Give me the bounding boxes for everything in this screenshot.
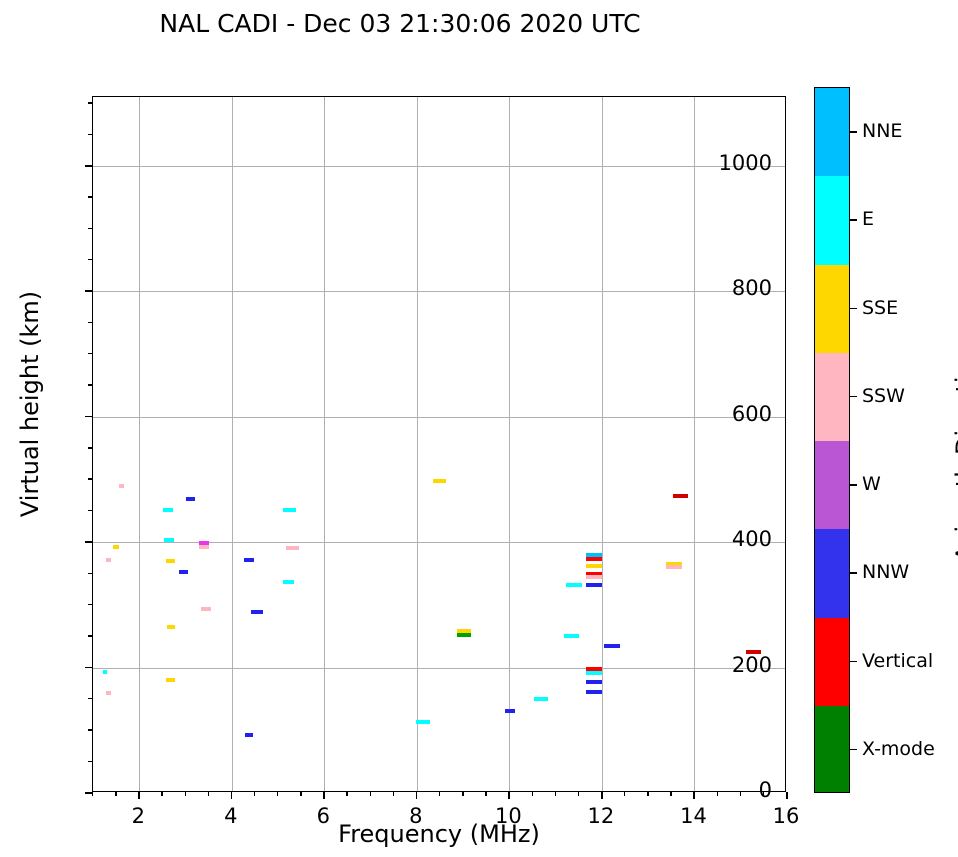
- ionogram-figure: NAL CADI - Dec 03 21:30:06 2020 UTC 0200…: [0, 0, 958, 857]
- data-mark: [564, 634, 579, 638]
- data-mark: [245, 733, 253, 737]
- data-mark: [201, 607, 211, 611]
- data-mark: [433, 479, 446, 483]
- x-tick-major: [508, 792, 510, 799]
- colorbar-label-nne: NNE: [862, 120, 902, 142]
- colorbar-segment-nne: [815, 88, 849, 176]
- data-mark: [416, 720, 430, 724]
- colorbar-title: Azimuth Direction: [951, 284, 958, 624]
- colorbar-segment-w: [815, 441, 849, 529]
- data-mark: [534, 697, 548, 701]
- data-mark: [166, 559, 175, 563]
- x-tick-minor: [370, 792, 371, 796]
- data-mark: [244, 558, 254, 562]
- data-mark: [604, 644, 619, 648]
- data-mark: [106, 558, 111, 562]
- data-mark: [186, 497, 195, 501]
- azimuth-colorbar: [814, 87, 850, 793]
- data-mark: [586, 583, 601, 587]
- x-tick-major: [138, 792, 140, 799]
- data-mark: [586, 690, 601, 694]
- data-mark: [119, 484, 125, 488]
- data-mark: [164, 538, 174, 542]
- data-mark: [586, 680, 601, 684]
- data-mark: [103, 670, 106, 674]
- y-axis-label: Virtual height (km): [16, 234, 44, 574]
- x-tick-minor: [624, 792, 625, 796]
- x-tick-minor: [647, 792, 648, 796]
- data-mark: [106, 691, 111, 695]
- y-tick-major: [85, 792, 92, 794]
- data-mark: [283, 508, 296, 512]
- data-mark: [283, 580, 295, 584]
- colorbar-segment-sse: [815, 265, 849, 353]
- x-tick-major: [231, 792, 233, 799]
- x-tick-minor: [115, 792, 116, 796]
- page-title: NAL CADI - Dec 03 21:30:06 2020 UTC: [0, 9, 800, 38]
- x-tick-minor: [161, 792, 162, 796]
- x-tick-minor: [740, 792, 741, 796]
- colorbar-tick: [850, 484, 857, 486]
- x-tick-major: [786, 792, 788, 799]
- colorbar-segment-x-mode: [815, 706, 849, 793]
- x-tick-major: [601, 792, 603, 799]
- data-mark: [166, 678, 175, 682]
- colorbar-tick: [850, 396, 857, 398]
- x-tick-minor: [393, 792, 394, 796]
- x-tick-minor: [717, 792, 718, 796]
- x-tick-minor: [462, 792, 463, 796]
- y-tick-major: [85, 165, 92, 167]
- plot-axes: [92, 96, 786, 792]
- data-mark: [673, 494, 688, 498]
- data-mark: [666, 565, 683, 569]
- x-tick-minor: [185, 792, 186, 796]
- x-tick-minor: [763, 792, 764, 796]
- colorbar-tick: [850, 572, 857, 574]
- x-tick-minor: [578, 792, 579, 796]
- colorbar-label-x-mode: X-mode: [862, 738, 935, 760]
- x-tick-minor: [254, 792, 255, 796]
- data-mark: [457, 633, 471, 637]
- x-axis-ticks: 246810121416: [92, 792, 786, 802]
- data-mark: [163, 508, 173, 512]
- colorbar-tick: [850, 661, 857, 663]
- data-mark: [586, 564, 601, 568]
- x-tick-minor: [346, 792, 347, 796]
- y-tick-major: [85, 667, 92, 669]
- colorbar-segment-vertical: [815, 618, 849, 706]
- x-tick-major: [693, 792, 695, 799]
- data-mark: [167, 625, 175, 629]
- x-tick-minor: [555, 792, 556, 796]
- x-tick-minor: [300, 792, 301, 796]
- x-tick-minor: [532, 792, 533, 796]
- colorbar-label-vertical: Vertical: [862, 650, 933, 672]
- colorbar-label-sse: SSE: [862, 297, 898, 319]
- data-mark: [586, 575, 601, 579]
- data-marks-layer: [93, 97, 785, 791]
- colorbar-label-w: W: [862, 473, 881, 495]
- data-mark: [505, 709, 515, 713]
- x-tick-minor: [277, 792, 278, 796]
- colorbar-segment-ssw: [815, 353, 849, 441]
- y-tick-major: [85, 416, 92, 418]
- data-mark: [586, 557, 601, 561]
- colorbar-tick-labels: NNEESSESSWWNNWVerticalX-mode: [850, 87, 950, 793]
- colorbar-tick: [850, 219, 857, 221]
- colorbar-segment-e: [815, 176, 849, 264]
- data-mark: [179, 570, 188, 574]
- x-tick-minor: [208, 792, 209, 796]
- data-mark: [113, 545, 119, 549]
- data-mark: [286, 546, 299, 550]
- x-tick-minor: [439, 792, 440, 796]
- data-mark: [586, 671, 601, 675]
- colorbar-label-ssw: SSW: [862, 385, 905, 407]
- y-tick-major: [85, 290, 92, 292]
- colorbar-tick: [850, 308, 857, 310]
- x-tick-major: [416, 792, 418, 799]
- y-tick-major: [85, 541, 92, 543]
- x-tick-minor: [670, 792, 671, 796]
- colorbar-tick: [850, 131, 857, 133]
- x-tick-major: [323, 792, 325, 799]
- data-mark: [199, 545, 208, 549]
- colorbar-tick: [850, 749, 857, 751]
- colorbar-label-nnw: NNW: [862, 561, 909, 583]
- colorbar-label-e: E: [862, 208, 874, 230]
- data-mark: [566, 583, 582, 587]
- data-mark: [251, 610, 263, 614]
- colorbar-segment-nnw: [815, 529, 849, 617]
- x-tick-minor: [485, 792, 486, 796]
- x-tick-minor: [92, 792, 93, 796]
- data-mark: [746, 650, 761, 654]
- x-axis-label: Frequency (MHz): [92, 820, 786, 848]
